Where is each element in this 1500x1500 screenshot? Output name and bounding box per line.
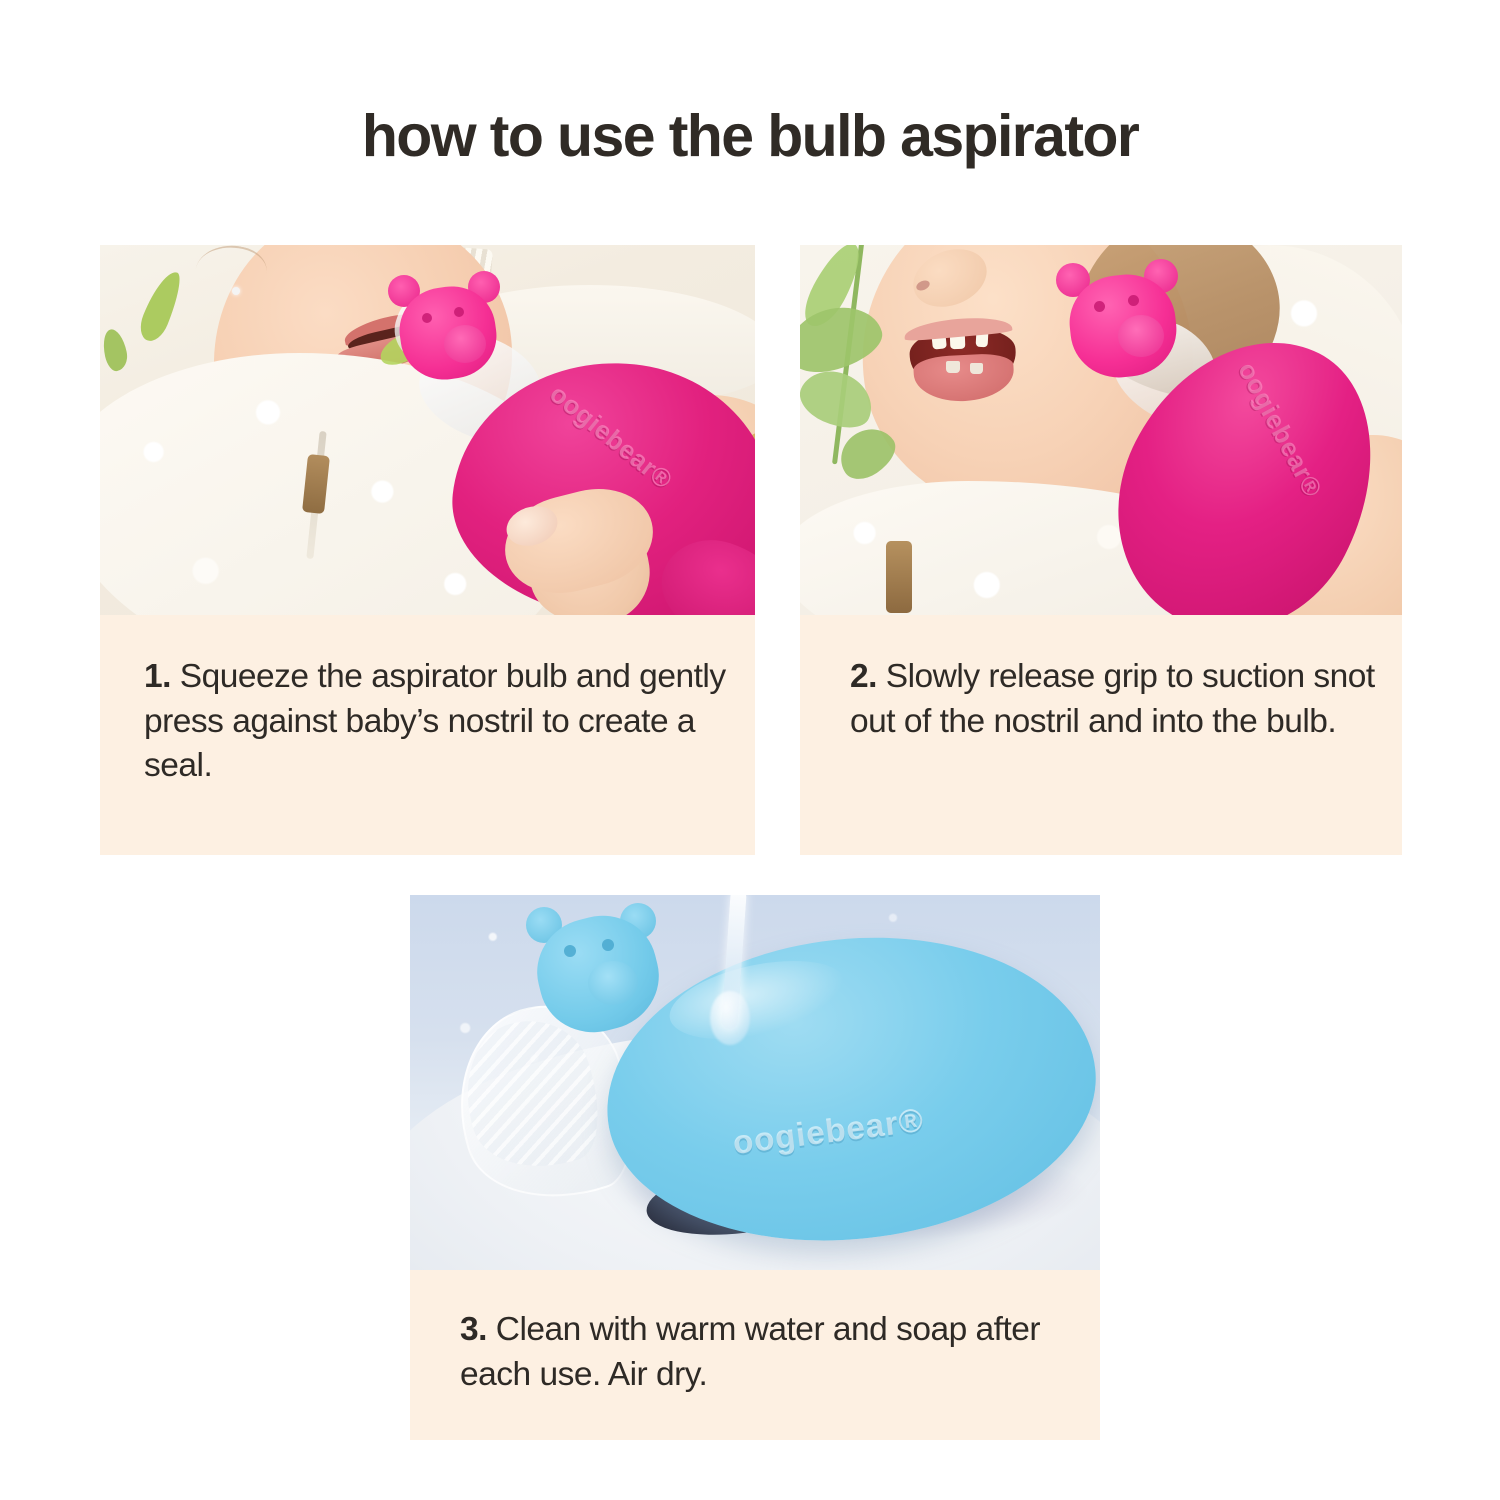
step-3-number: 3.: [460, 1311, 487, 1348]
bear-snout-icon: [1118, 315, 1164, 357]
step-1-text: Squeeze the aspirator bulb and gently pr…: [144, 658, 726, 784]
zipper-pull: [886, 541, 912, 613]
step-card-1: oogiebear® 1. Squeeze the aspirator bulb…: [100, 245, 755, 855]
bear-eye-icon: [454, 307, 464, 317]
hair-wisp: [191, 245, 270, 304]
step-1-number: 1.: [144, 658, 171, 695]
tooth: [970, 363, 983, 374]
step-3-photo: oogiebear®: [410, 895, 1100, 1270]
bear-eye-icon: [564, 945, 576, 957]
step-card-3: oogiebear® 3. Clean with warm water and …: [410, 895, 1100, 1440]
water-splash: [710, 991, 750, 1045]
step-3-caption: 3. Clean with warm water and soap after …: [410, 1270, 1100, 1440]
step-1-caption: 1. Squeeze the aspirator bulb and gently…: [100, 615, 755, 855]
bear-snout-icon: [444, 325, 486, 363]
step-2-caption: 2. Slowly release grip to suction snot o…: [800, 615, 1402, 855]
leaf-icon: [831, 419, 904, 488]
step-2-text: Slowly release grip to suction snot out …: [850, 658, 1375, 740]
bear-eye-icon: [422, 313, 432, 323]
bear-eye-icon: [1094, 301, 1105, 312]
bear-snout-icon: [588, 961, 638, 1005]
step-card-2: oogiebear® 2. Slowly release grip to suc…: [800, 245, 1402, 855]
bear-eye-icon: [602, 939, 614, 951]
step-2-photo: oogiebear®: [800, 245, 1402, 615]
page-title: how to use the bulb aspirator: [0, 104, 1500, 169]
step-2-number: 2.: [850, 658, 877, 695]
earring: [232, 287, 240, 295]
bear-eye-icon: [1128, 295, 1139, 306]
leaf-decoration-icon: [100, 327, 130, 373]
infographic-page: how to use the bulb aspirator: [0, 0, 1500, 1500]
step-1-photo: oogiebear®: [100, 245, 755, 615]
leaf-decoration-icon: [135, 267, 187, 345]
step-3-text: Clean with warm water and soap after eac…: [460, 1311, 1040, 1393]
